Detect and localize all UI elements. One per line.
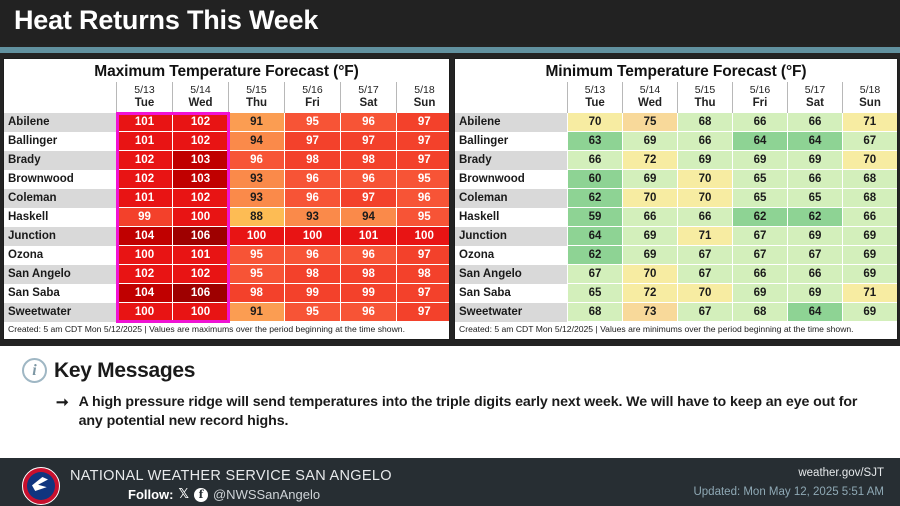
temp-cell: 72 bbox=[623, 151, 678, 170]
column-day: Thu bbox=[678, 97, 732, 110]
column-day: Sun bbox=[843, 97, 897, 110]
office-name: NATIONAL WEATHER SERVICE SAN ANGELO bbox=[70, 468, 392, 484]
city-label: San Saba bbox=[455, 284, 568, 303]
column-date: 5/17 bbox=[788, 84, 842, 97]
city-label: Brady bbox=[455, 151, 568, 170]
min-table-title: Minimum Temperature Forecast (°F) bbox=[455, 59, 897, 82]
key-message-item: ➞ A high pressure ridge will send temper… bbox=[56, 393, 866, 431]
temp-cell: 67 bbox=[678, 303, 733, 322]
temp-cell: 102 bbox=[117, 151, 173, 170]
footer-bar: NATIONAL WEATHER SERVICE SAN ANGELO Foll… bbox=[0, 458, 900, 506]
temp-cell: 97 bbox=[341, 189, 397, 208]
temp-cell: 98 bbox=[285, 265, 341, 284]
column-date: 5/18 bbox=[397, 84, 450, 97]
column-header-thu: 5/15Thu bbox=[678, 82, 733, 113]
max-table-head: 5/13Tue5/14Wed5/15Thu5/16Fri5/17Sat5/18S… bbox=[4, 82, 450, 113]
temp-cell: 98 bbox=[341, 151, 397, 170]
temp-cell: 70 bbox=[568, 113, 623, 132]
temp-cell: 60 bbox=[568, 170, 623, 189]
column-header-sun: 5/18Sun bbox=[843, 82, 898, 113]
column-header-sun: 5/18Sun bbox=[397, 82, 451, 113]
temp-cell: 104 bbox=[117, 284, 173, 303]
temp-cell: 71 bbox=[678, 227, 733, 246]
table-row: Haskell9910088939495 bbox=[4, 208, 450, 227]
temp-cell: 96 bbox=[341, 170, 397, 189]
min-table-head: 5/13Tue5/14Wed5/15Thu5/16Fri5/17Sat5/18S… bbox=[455, 82, 897, 113]
min-header-row: 5/13Tue5/14Wed5/15Thu5/16Fri5/17Sat5/18S… bbox=[455, 82, 897, 113]
city-label: Sweetwater bbox=[4, 303, 117, 322]
temp-cell: 93 bbox=[229, 189, 285, 208]
temp-cell: 91 bbox=[229, 113, 285, 132]
temp-cell: 96 bbox=[285, 189, 341, 208]
temp-cell: 68 bbox=[733, 303, 788, 322]
temp-cell: 66 bbox=[678, 208, 733, 227]
temp-cell: 68 bbox=[843, 170, 898, 189]
temp-cell: 63 bbox=[568, 132, 623, 151]
accent-bar bbox=[0, 47, 900, 53]
updated-timestamp: Updated: Mon May 12, 2025 5:51 AM bbox=[693, 486, 884, 498]
max-table-title: Maximum Temperature Forecast (°F) bbox=[4, 59, 449, 82]
temp-cell: 103 bbox=[173, 151, 229, 170]
temp-cell: 66 bbox=[568, 151, 623, 170]
temp-cell: 94 bbox=[229, 132, 285, 151]
temp-cell: 70 bbox=[623, 189, 678, 208]
temp-cell: 70 bbox=[843, 151, 898, 170]
max-header-row: 5/13Tue5/14Wed5/15Thu5/16Fri5/17Sat5/18S… bbox=[4, 82, 450, 113]
temp-cell: 65 bbox=[733, 189, 788, 208]
temp-cell: 102 bbox=[117, 170, 173, 189]
temp-cell: 97 bbox=[397, 132, 451, 151]
column-day: Wed bbox=[173, 97, 228, 110]
temp-cell: 64 bbox=[733, 132, 788, 151]
min-temp-table: 5/13Tue5/14Wed5/15Thu5/16Fri5/17Sat5/18S… bbox=[455, 82, 898, 322]
temp-cell: 69 bbox=[843, 303, 898, 322]
title-bar: Heat Returns This Week bbox=[0, 0, 900, 44]
table-row: Brownwood606970656668 bbox=[455, 170, 897, 189]
max-temp-table: 5/13Tue5/14Wed5/15Thu5/16Fri5/17Sat5/18S… bbox=[4, 82, 450, 322]
table-row: San Saba10410698999997 bbox=[4, 284, 450, 303]
temp-cell: 95 bbox=[397, 208, 451, 227]
temp-cell: 67 bbox=[788, 246, 843, 265]
min-header-blank bbox=[455, 82, 568, 113]
temp-cell: 99 bbox=[341, 284, 397, 303]
table-row: San Angelo10210295989898 bbox=[4, 265, 450, 284]
x-twitter-icon[interactable]: 𝕏 bbox=[179, 487, 189, 502]
table-row: Brady10210396989897 bbox=[4, 151, 450, 170]
table-row: San Angelo677067666669 bbox=[455, 265, 897, 284]
temp-cell: 67 bbox=[733, 246, 788, 265]
temp-cell: 100 bbox=[117, 303, 173, 322]
temp-cell: 97 bbox=[341, 132, 397, 151]
temp-cell: 100 bbox=[397, 227, 451, 246]
temp-cell: 102 bbox=[117, 265, 173, 284]
temp-cell: 64 bbox=[788, 303, 843, 322]
temp-cell: 99 bbox=[117, 208, 173, 227]
temp-cell: 88 bbox=[229, 208, 285, 227]
temp-cell: 97 bbox=[397, 303, 451, 322]
temp-cell: 96 bbox=[341, 246, 397, 265]
temp-cell: 98 bbox=[341, 265, 397, 284]
city-label: San Angelo bbox=[455, 265, 568, 284]
temp-cell: 101 bbox=[173, 246, 229, 265]
temp-cell: 66 bbox=[623, 208, 678, 227]
temp-cell: 69 bbox=[843, 227, 898, 246]
temp-cell: 69 bbox=[678, 151, 733, 170]
temp-cell: 98 bbox=[285, 151, 341, 170]
temp-cell: 97 bbox=[397, 113, 451, 132]
temp-cell: 101 bbox=[117, 132, 173, 151]
table-row: Junction646971676969 bbox=[455, 227, 897, 246]
temp-cell: 64 bbox=[788, 132, 843, 151]
table-row: Ozona10010195969697 bbox=[4, 246, 450, 265]
max-temp-table-panel: Maximum Temperature Forecast (°F) 5/13Tu… bbox=[3, 58, 450, 340]
city-label: Ozona bbox=[4, 246, 117, 265]
city-label: San Angelo bbox=[4, 265, 117, 284]
column-date: 5/14 bbox=[173, 84, 228, 97]
column-header-sat: 5/17Sat bbox=[341, 82, 397, 113]
temp-cell: 106 bbox=[173, 227, 229, 246]
temp-cell: 99 bbox=[285, 284, 341, 303]
city-label: Haskell bbox=[455, 208, 568, 227]
temp-cell: 66 bbox=[678, 132, 733, 151]
column-header-tue: 5/13Tue bbox=[117, 82, 173, 113]
temp-cell: 97 bbox=[397, 284, 451, 303]
temp-cell: 71 bbox=[843, 284, 898, 303]
temp-cell: 103 bbox=[173, 170, 229, 189]
column-date: 5/17 bbox=[341, 84, 396, 97]
temp-cell: 104 bbox=[117, 227, 173, 246]
city-label: Abilene bbox=[4, 113, 117, 132]
city-label: Haskell bbox=[4, 208, 117, 227]
temp-cell: 68 bbox=[843, 189, 898, 208]
table-row: Brownwood10210393969695 bbox=[4, 170, 450, 189]
temp-cell: 100 bbox=[285, 227, 341, 246]
temp-cell: 100 bbox=[173, 208, 229, 227]
temp-cell: 69 bbox=[788, 227, 843, 246]
key-message-text: A high pressure ridge will send temperat… bbox=[79, 393, 866, 431]
city-label: Ballinger bbox=[4, 132, 117, 151]
city-label: Coleman bbox=[455, 189, 568, 208]
temp-cell: 102 bbox=[173, 265, 229, 284]
city-label: Coleman bbox=[4, 189, 117, 208]
temp-cell: 95 bbox=[229, 246, 285, 265]
column-date: 5/14 bbox=[623, 84, 677, 97]
temp-cell: 65 bbox=[733, 170, 788, 189]
temp-cell: 101 bbox=[117, 189, 173, 208]
temp-cell: 69 bbox=[733, 151, 788, 170]
temp-cell: 102 bbox=[173, 132, 229, 151]
table-row: Sweetwater687367686469 bbox=[455, 303, 897, 322]
social-handle[interactable]: @NWSSanAngelo bbox=[213, 487, 320, 502]
temp-cell: 69 bbox=[623, 227, 678, 246]
column-date: 5/15 bbox=[229, 84, 284, 97]
city-label: Brady bbox=[4, 151, 117, 170]
city-label: Abilene bbox=[455, 113, 568, 132]
temp-cell: 69 bbox=[733, 284, 788, 303]
temp-cell: 71 bbox=[843, 113, 898, 132]
temp-cell: 68 bbox=[568, 303, 623, 322]
temp-cell: 70 bbox=[678, 170, 733, 189]
min-table-footnote: Created: 5 am CDT Mon 5/12/2025 | Values… bbox=[455, 322, 897, 334]
nws-logo-icon bbox=[22, 467, 60, 505]
temp-cell: 102 bbox=[173, 113, 229, 132]
max-table-footnote: Created: 5 am CDT Mon 5/12/2025 | Values… bbox=[4, 322, 449, 334]
graphic-canvas: Heat Returns This Week Maximum Temperatu… bbox=[0, 0, 900, 506]
column-day: Tue bbox=[568, 97, 622, 110]
temp-cell: 67 bbox=[678, 246, 733, 265]
temp-cell: 100 bbox=[173, 303, 229, 322]
column-date: 5/15 bbox=[678, 84, 732, 97]
temp-cell: 96 bbox=[397, 189, 451, 208]
temp-cell: 94 bbox=[341, 208, 397, 227]
column-date: 5/13 bbox=[117, 84, 172, 97]
table-row: Ballinger10110294979797 bbox=[4, 132, 450, 151]
social-row: Follow: 𝕏 f @NWSSanAngelo bbox=[128, 487, 320, 502]
temp-cell: 93 bbox=[285, 208, 341, 227]
temp-cell: 95 bbox=[285, 303, 341, 322]
temp-cell: 66 bbox=[843, 208, 898, 227]
column-day: Fri bbox=[285, 97, 340, 110]
column-day: Sat bbox=[788, 97, 842, 110]
city-label: Sweetwater bbox=[455, 303, 568, 322]
temp-cell: 91 bbox=[229, 303, 285, 322]
temp-cell: 75 bbox=[623, 113, 678, 132]
key-messages-section: i Key Messages ➞ A high pressure ridge w… bbox=[0, 346, 900, 458]
table-row: Coleman10110293969796 bbox=[4, 189, 450, 208]
page-title: Heat Returns This Week bbox=[14, 5, 318, 36]
table-row: Abilene707568666671 bbox=[455, 113, 897, 132]
max-table-body: Abilene10110291959697Ballinger1011029497… bbox=[4, 113, 450, 322]
temp-cell: 67 bbox=[733, 227, 788, 246]
temp-cell: 102 bbox=[173, 189, 229, 208]
temp-cell: 59 bbox=[568, 208, 623, 227]
table-row: Sweetwater10010091959697 bbox=[4, 303, 450, 322]
column-header-fri: 5/16Fri bbox=[733, 82, 788, 113]
arrow-right-icon: ➞ bbox=[56, 393, 69, 431]
min-table-body: Abilene707568666671Ballinger636966646467… bbox=[455, 113, 897, 322]
column-header-tue: 5/13Tue bbox=[568, 82, 623, 113]
temp-cell: 64 bbox=[568, 227, 623, 246]
key-messages-header: i Key Messages bbox=[22, 358, 195, 383]
column-header-fri: 5/16Fri bbox=[285, 82, 341, 113]
temp-cell: 69 bbox=[788, 284, 843, 303]
max-header-blank bbox=[4, 82, 117, 113]
temp-cell: 97 bbox=[285, 132, 341, 151]
column-date: 5/16 bbox=[285, 84, 340, 97]
temp-cell: 68 bbox=[678, 113, 733, 132]
column-day: Sat bbox=[341, 97, 396, 110]
temp-cell: 96 bbox=[285, 170, 341, 189]
table-row: Junction104106100100101100 bbox=[4, 227, 450, 246]
temp-cell: 69 bbox=[623, 132, 678, 151]
table-row: San Saba657270696971 bbox=[455, 284, 897, 303]
temp-cell: 96 bbox=[341, 113, 397, 132]
city-label: Brownwood bbox=[455, 170, 568, 189]
temp-cell: 65 bbox=[788, 189, 843, 208]
temp-cell: 66 bbox=[788, 113, 843, 132]
temp-cell: 69 bbox=[843, 265, 898, 284]
temp-cell: 100 bbox=[229, 227, 285, 246]
city-label: Junction bbox=[4, 227, 117, 246]
city-label: Ozona bbox=[455, 246, 568, 265]
table-row: Ballinger636966646467 bbox=[455, 132, 897, 151]
table-row: Coleman627070656568 bbox=[455, 189, 897, 208]
table-row: Abilene10110291959697 bbox=[4, 113, 450, 132]
column-day: Tue bbox=[117, 97, 172, 110]
column-day: Sun bbox=[397, 97, 450, 110]
temp-cell: 98 bbox=[229, 284, 285, 303]
temp-cell: 66 bbox=[788, 265, 843, 284]
temp-cell: 62 bbox=[568, 246, 623, 265]
temp-cell: 97 bbox=[397, 246, 451, 265]
temp-cell: 69 bbox=[788, 151, 843, 170]
city-label: Junction bbox=[455, 227, 568, 246]
city-label: San Saba bbox=[4, 284, 117, 303]
temp-cell: 96 bbox=[229, 151, 285, 170]
temp-cell: 100 bbox=[117, 246, 173, 265]
temp-cell: 69 bbox=[623, 246, 678, 265]
temp-cell: 67 bbox=[843, 132, 898, 151]
column-header-wed: 5/14Wed bbox=[173, 82, 229, 113]
follow-label: Follow: bbox=[128, 487, 174, 502]
temp-cell: 62 bbox=[568, 189, 623, 208]
info-icon: i bbox=[22, 358, 47, 383]
temp-cell: 73 bbox=[623, 303, 678, 322]
temp-cell: 66 bbox=[733, 265, 788, 284]
temp-cell: 106 bbox=[173, 284, 229, 303]
temp-cell: 62 bbox=[733, 208, 788, 227]
temp-cell: 70 bbox=[623, 265, 678, 284]
column-day: Fri bbox=[733, 97, 787, 110]
temp-cell: 72 bbox=[623, 284, 678, 303]
temp-cell: 70 bbox=[678, 284, 733, 303]
column-day: Thu bbox=[229, 97, 284, 110]
temp-cell: 95 bbox=[397, 170, 451, 189]
city-label: Ballinger bbox=[455, 132, 568, 151]
temp-cell: 95 bbox=[285, 113, 341, 132]
temp-cell: 97 bbox=[397, 151, 451, 170]
temp-cell: 66 bbox=[788, 170, 843, 189]
min-temp-table-panel: Minimum Temperature Forecast (°F) 5/13Tu… bbox=[454, 58, 898, 340]
column-date: 5/18 bbox=[843, 84, 897, 97]
table-row: Brady667269696970 bbox=[455, 151, 897, 170]
temp-cell: 65 bbox=[568, 284, 623, 303]
temp-cell: 69 bbox=[623, 170, 678, 189]
temp-cell: 96 bbox=[285, 246, 341, 265]
temp-cell: 70 bbox=[678, 189, 733, 208]
table-row: Haskell596666626266 bbox=[455, 208, 897, 227]
column-date: 5/13 bbox=[568, 84, 622, 97]
city-label: Brownwood bbox=[4, 170, 117, 189]
temp-cell: 66 bbox=[733, 113, 788, 132]
temp-cell: 67 bbox=[678, 265, 733, 284]
temp-cell: 96 bbox=[341, 303, 397, 322]
temp-cell: 98 bbox=[397, 265, 451, 284]
website-url[interactable]: weather.gov/SJT bbox=[798, 467, 884, 479]
temp-cell: 67 bbox=[568, 265, 623, 284]
temp-cell: 95 bbox=[229, 265, 285, 284]
temp-cell: 69 bbox=[843, 246, 898, 265]
column-date: 5/16 bbox=[733, 84, 787, 97]
temp-cell: 62 bbox=[788, 208, 843, 227]
column-header-wed: 5/14Wed bbox=[623, 82, 678, 113]
column-header-thu: 5/15Thu bbox=[229, 82, 285, 113]
key-messages-title: Key Messages bbox=[54, 359, 195, 383]
column-day: Wed bbox=[623, 97, 677, 110]
facebook-icon[interactable]: f bbox=[194, 488, 208, 502]
column-header-sat: 5/17Sat bbox=[788, 82, 843, 113]
temp-cell: 93 bbox=[229, 170, 285, 189]
table-row: Ozona626967676769 bbox=[455, 246, 897, 265]
temp-cell: 101 bbox=[341, 227, 397, 246]
temp-cell: 101 bbox=[117, 113, 173, 132]
